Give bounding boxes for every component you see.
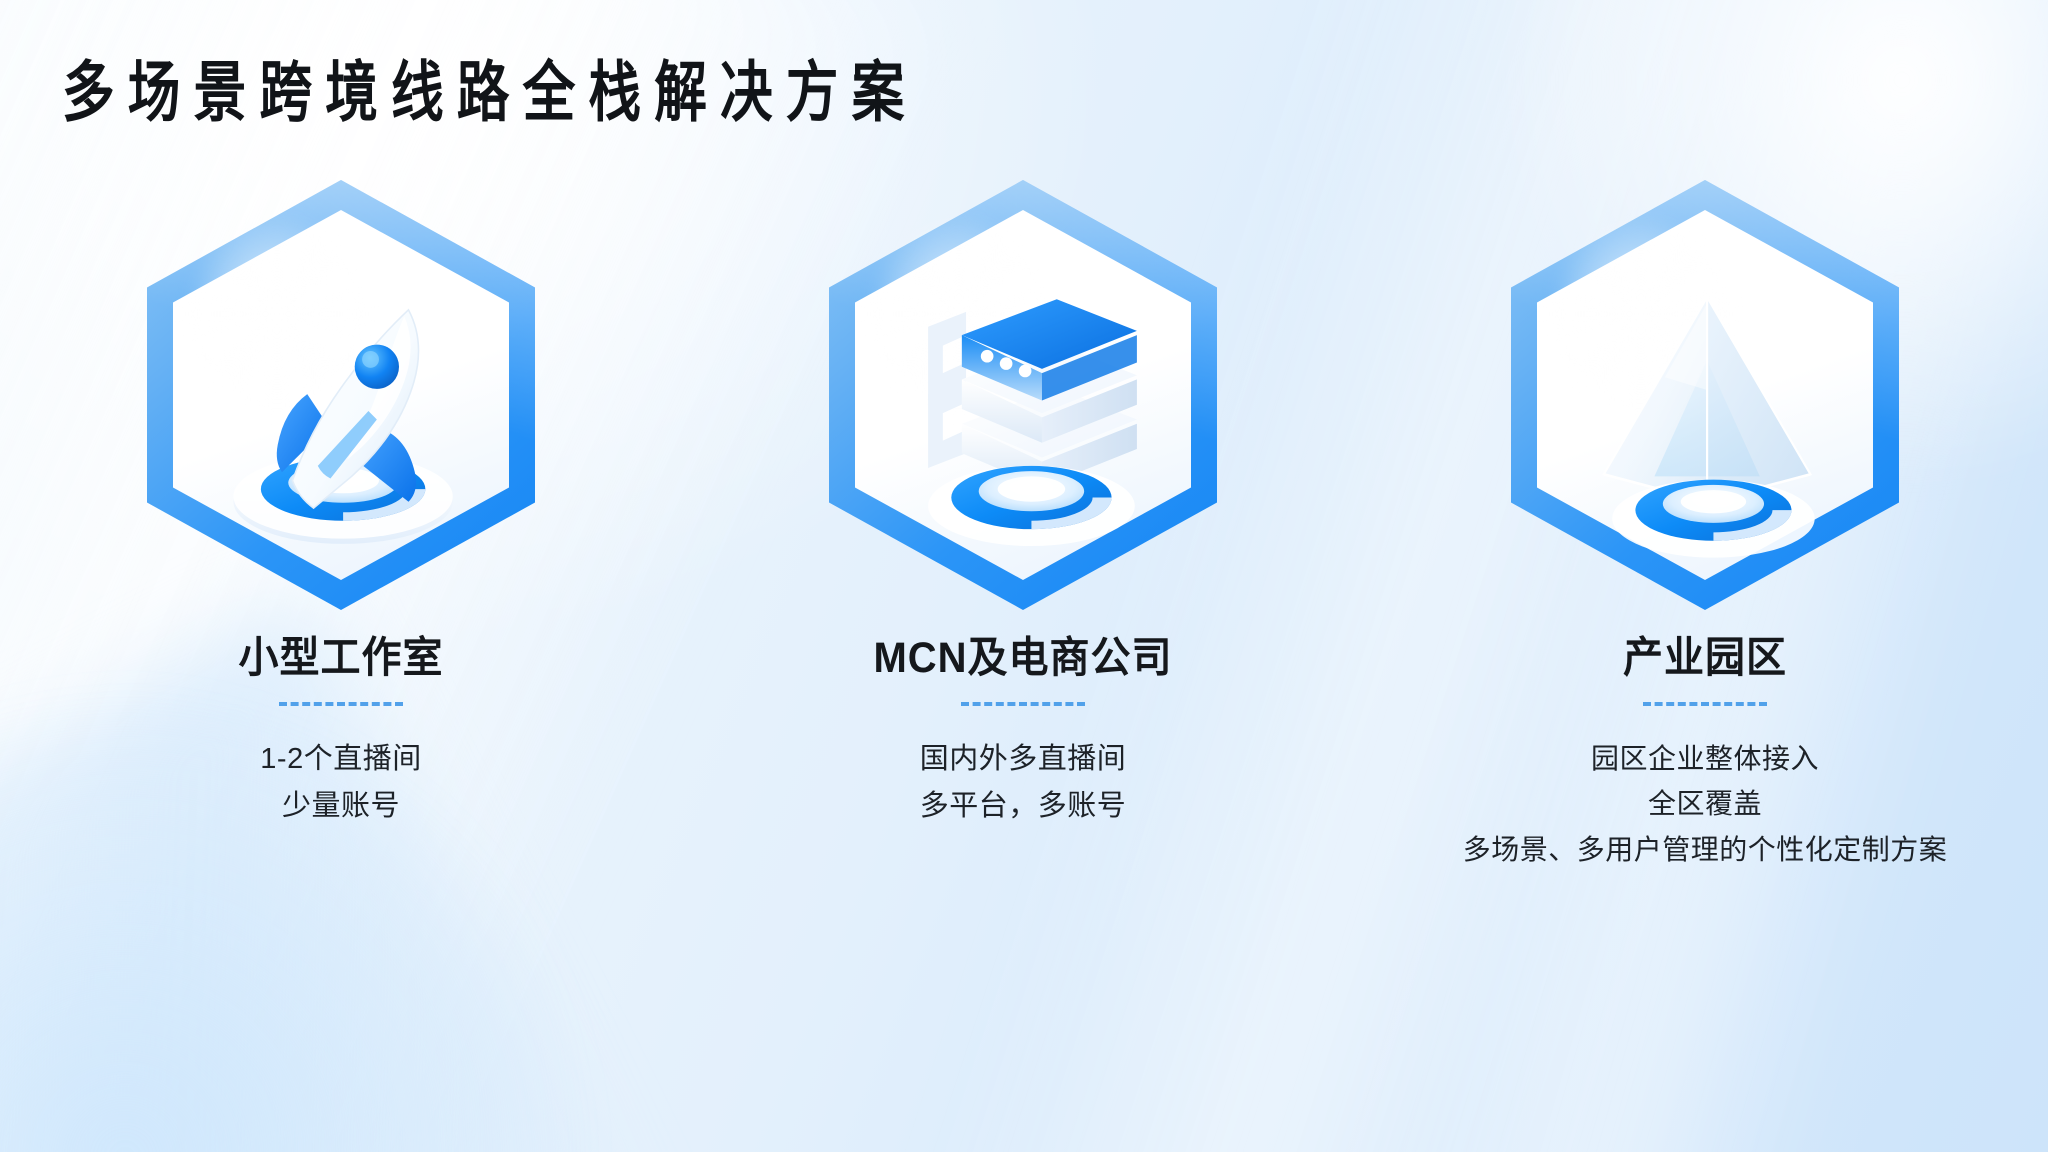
card-body-line: 国内外多直播间 [920,736,1127,783]
card-title: 产业园区 [1623,635,1787,682]
card-divider [1643,702,1767,706]
card-body-line: 少量账号 [260,783,421,830]
scenario-card[interactable]: MCN及电商公司 国内外多直播间 多平台，多账号 [682,160,1364,872]
card-body: 国内外多直播间 多平台，多账号 [920,736,1127,830]
page-title: 多场景跨境线路全栈解决方案 [62,56,917,130]
poster-stage: 多场景跨境线路全栈解决方案 [0,0,2048,1152]
card-divider [961,702,1085,706]
card-body-line: 多平台，多账号 [920,783,1127,830]
card-divider [279,702,403,706]
card-body: 1-2个直播间 少量账号 [260,736,421,830]
card-body: 园区企业整体接入 全区覆盖 多场景、多用户管理的个性化定制方案 [1463,736,1948,872]
server-stack-hexagon-icon [829,180,1217,610]
scenario-card[interactable]: 小型工作室 1-2个直播间 少量账号 [0,160,682,872]
pyramid-illustration [1511,236,1899,584]
card-body-line: 1-2个直播间 [260,736,421,783]
card-body-line: 园区企业整体接入 [1463,736,1948,781]
scenario-card-row: 小型工作室 1-2个直播间 少量账号 [0,160,2048,872]
rocket-hexagon-icon [147,180,535,610]
rocket-illustration [147,236,535,584]
card-body-line: 多场景、多用户管理的个性化定制方案 [1463,827,1948,872]
scenario-card[interactable]: 产业园区 园区企业整体接入 全区覆盖 多场景、多用户管理的个性化定制方案 [1364,160,2046,872]
server-stack-illustration [829,236,1217,584]
glass-pyramid-hexagon-icon [1511,180,1899,610]
card-body-line: 全区覆盖 [1463,781,1948,826]
card-title: MCN及电商公司 [873,635,1172,682]
card-title: 小型工作室 [239,635,444,682]
